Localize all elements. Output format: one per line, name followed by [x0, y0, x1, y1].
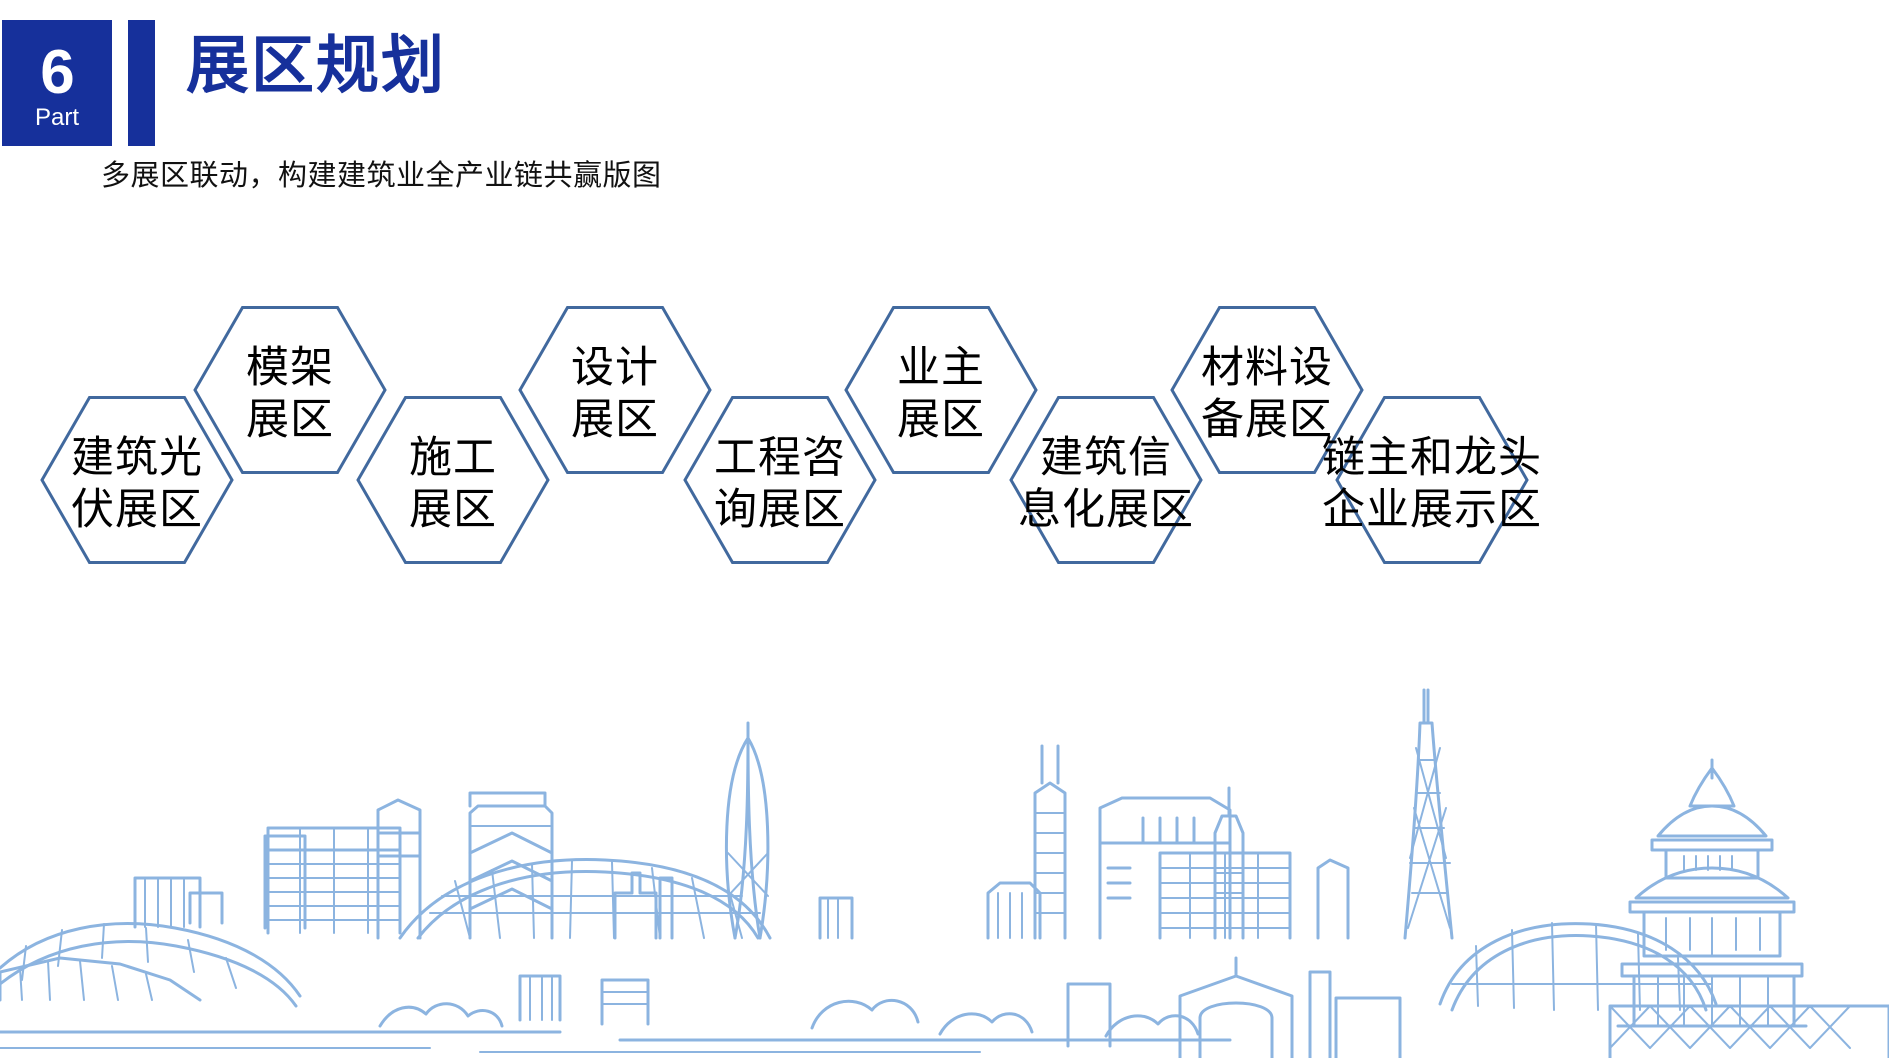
page-title: 展区规划 — [186, 30, 446, 102]
zone-1-label-line1: 建筑光 — [71, 434, 203, 482]
zone-4-label-line1: 设计 — [571, 344, 659, 392]
zone-8-label-line2: 备展区 — [1201, 396, 1333, 444]
zone-3-label-line1: 施工 — [409, 434, 497, 482]
zone-8-label-line1: 材料设 — [1201, 344, 1333, 392]
zone-4-label-line2: 展区 — [571, 396, 659, 444]
zone-6-label-line1: 业主 — [897, 344, 985, 392]
zone-3-label-line2: 展区 — [409, 486, 497, 534]
zone-1-label-line2: 伏展区 — [71, 486, 203, 534]
part-number: 6 — [40, 42, 73, 104]
part-badge: 6 Part — [2, 20, 112, 146]
zone-5-label-line1: 工程咨 — [714, 434, 846, 482]
page-subtitle: 多展区联动，构建建筑业全产业链共赢版图 — [101, 152, 662, 194]
slide-header: 6 Part 展区规划 多展区联动，构建建筑业全产业链共赢版图 — [0, 0, 1889, 200]
zone-2-label-line1: 模架 — [246, 344, 334, 392]
zone-7-label-line2: 息化展区 — [1018, 486, 1194, 534]
zone-9-label-line2: 企业展示区 — [1322, 486, 1542, 534]
zone-2-label-line2: 展区 — [246, 396, 334, 444]
city-skyline-illustration — [0, 628, 1889, 1058]
part-label: Part — [35, 106, 79, 130]
exhibition-zone-hex-chain: 建筑光伏展区模架展区施工展区设计展区工程咨询展区业主展区建筑信息化展区材料设备展… — [0, 280, 1889, 590]
accent-bar — [128, 20, 155, 146]
zone-6-label-line2: 展区 — [897, 396, 985, 444]
zone-7-label-line1: 建筑信 — [1040, 434, 1172, 482]
zone-5-label-line2: 询展区 — [714, 486, 846, 534]
zone-9-label-line1: 链主和龙头 — [1322, 434, 1542, 482]
